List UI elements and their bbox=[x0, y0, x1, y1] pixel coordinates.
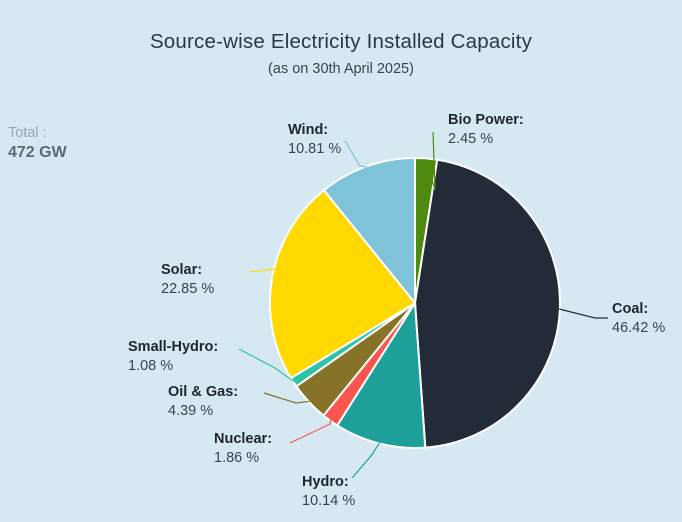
callout-nuclear-value: 1.86 % bbox=[214, 449, 272, 468]
callout-wind: Wind: 10.81 % bbox=[288, 121, 341, 159]
pie-chart bbox=[0, 0, 682, 522]
leader-line-hydro bbox=[352, 443, 380, 478]
callout-bio-power-value: 2.45 % bbox=[448, 130, 524, 149]
callout-bio-power: Bio Power: 2.45 % bbox=[448, 111, 524, 149]
callout-small-hydro-value: 1.08 % bbox=[128, 357, 218, 376]
callout-solar-value: 22.85 % bbox=[161, 280, 214, 299]
leader-line-nuclear bbox=[290, 420, 331, 443]
leader-line-wind bbox=[345, 141, 367, 167]
callout-coal: Coal: 46.42 % bbox=[612, 300, 665, 338]
callout-hydro: Hydro: 10.14 % bbox=[302, 473, 355, 511]
leader-line-coal bbox=[559, 309, 608, 318]
callout-wind-label: Wind: bbox=[288, 121, 341, 140]
callout-coal-label: Coal: bbox=[612, 300, 665, 319]
callout-oil-and-gas-value: 4.39 % bbox=[168, 402, 238, 421]
callout-nuclear-label: Nuclear: bbox=[214, 430, 272, 449]
callout-oil-and-gas: Oil & Gas: 4.39 % bbox=[168, 383, 238, 421]
callout-oil-and-gas-label: Oil & Gas: bbox=[168, 383, 238, 402]
callout-nuclear: Nuclear: 1.86 % bbox=[214, 430, 272, 468]
callout-hydro-label: Hydro: bbox=[302, 473, 355, 492]
callout-bio-power-label: Bio Power: bbox=[448, 111, 524, 130]
callout-hydro-value: 10.14 % bbox=[302, 492, 355, 511]
callout-small-hydro-label: Small-Hydro: bbox=[128, 338, 218, 357]
callout-solar-label: Solar: bbox=[161, 261, 214, 280]
pie-slice-coal[interactable] bbox=[415, 160, 560, 448]
callout-solar: Solar: 22.85 % bbox=[161, 261, 214, 299]
callout-small-hydro: Small-Hydro: 1.08 % bbox=[128, 338, 218, 376]
pie-slices[interactable] bbox=[270, 158, 560, 448]
callout-coal-value: 46.42 % bbox=[612, 319, 665, 338]
callout-wind-value: 10.81 % bbox=[288, 140, 341, 159]
chart-canvas: Source-wise Electricity Installed Capaci… bbox=[0, 0, 682, 522]
